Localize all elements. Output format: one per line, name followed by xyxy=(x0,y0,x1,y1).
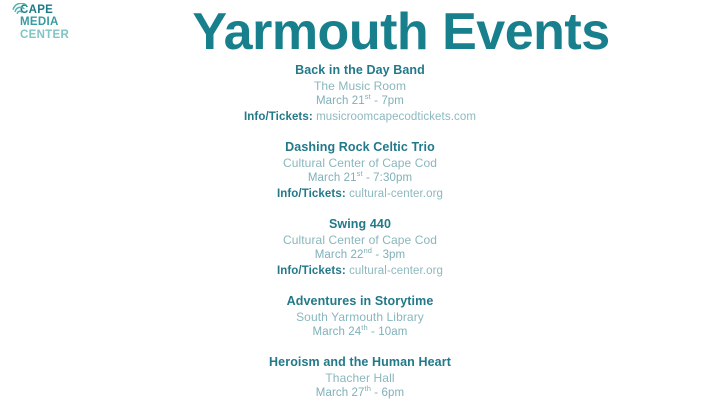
event-date-suffix: - 7:30pm xyxy=(363,172,412,184)
event-title: Swing 440 xyxy=(0,216,720,232)
event-item: Adventures in Storytime South Yarmouth L… xyxy=(0,293,720,340)
event-date: March 21st - 7:30pm xyxy=(0,171,720,186)
event-date-suffix: - 6pm xyxy=(371,387,404,399)
event-title: Dashing Rock Celtic Trio xyxy=(0,139,720,155)
event-date-prefix: March 24 xyxy=(313,326,362,338)
events-list: Back in the Day Band The Music Room Marc… xyxy=(0,62,720,401)
event-item: Swing 440 Cultural Center of Cape Cod Ma… xyxy=(0,216,720,279)
event-date-ordinal: nd xyxy=(364,246,373,255)
event-venue: Thacher Hall xyxy=(0,370,720,386)
event-date-suffix: - 3pm xyxy=(372,249,405,261)
event-item: Back in the Day Band The Music Room Marc… xyxy=(0,62,720,125)
event-date-prefix: March 22 xyxy=(315,249,364,261)
event-title: Back in the Day Band xyxy=(0,62,720,78)
event-info-value: cultural-center.org xyxy=(349,265,443,277)
event-venue: Cultural Center of Cape Cod xyxy=(0,232,720,248)
event-date-prefix: March 21 xyxy=(308,172,357,184)
event-date: March 21st - 7pm xyxy=(0,94,720,109)
event-info-label: Info/Tickets: xyxy=(277,188,346,200)
event-date-prefix: March 27 xyxy=(316,387,365,399)
event-item: Dashing Rock Celtic Trio Cultural Center… xyxy=(0,139,720,202)
event-title: Adventures in Storytime xyxy=(0,293,720,309)
event-date-suffix: - 10am xyxy=(368,326,408,338)
event-date-suffix: - 7pm xyxy=(371,95,404,107)
event-date: March 22nd - 3pm xyxy=(0,248,720,263)
event-info-value: cultural-center.org xyxy=(349,188,443,200)
event-date-prefix: March 21 xyxy=(316,95,365,107)
event-venue: South Yarmouth Library xyxy=(0,309,720,325)
event-venue: The Music Room xyxy=(0,78,720,94)
event-info[interactable]: Info/Tickets: musicroomcapecodtickets.co… xyxy=(0,109,720,125)
event-info[interactable]: Info/Tickets: cultural-center.org xyxy=(0,186,720,202)
event-info-label: Info/Tickets: xyxy=(277,265,346,277)
event-info-value: musicroomcapecodtickets.com xyxy=(316,111,476,123)
event-date: March 24th - 10am xyxy=(0,325,720,340)
event-info[interactable]: Info/Tickets: cultural-center.org xyxy=(0,263,720,279)
event-title: Heroism and the Human Heart xyxy=(0,354,720,370)
event-item: Heroism and the Human Heart Thacher Hall… xyxy=(0,354,720,401)
event-info-label: Info/Tickets: xyxy=(244,111,313,123)
event-date: March 27th - 6pm xyxy=(0,386,720,401)
page-title: Yarmouth Events xyxy=(0,2,720,62)
